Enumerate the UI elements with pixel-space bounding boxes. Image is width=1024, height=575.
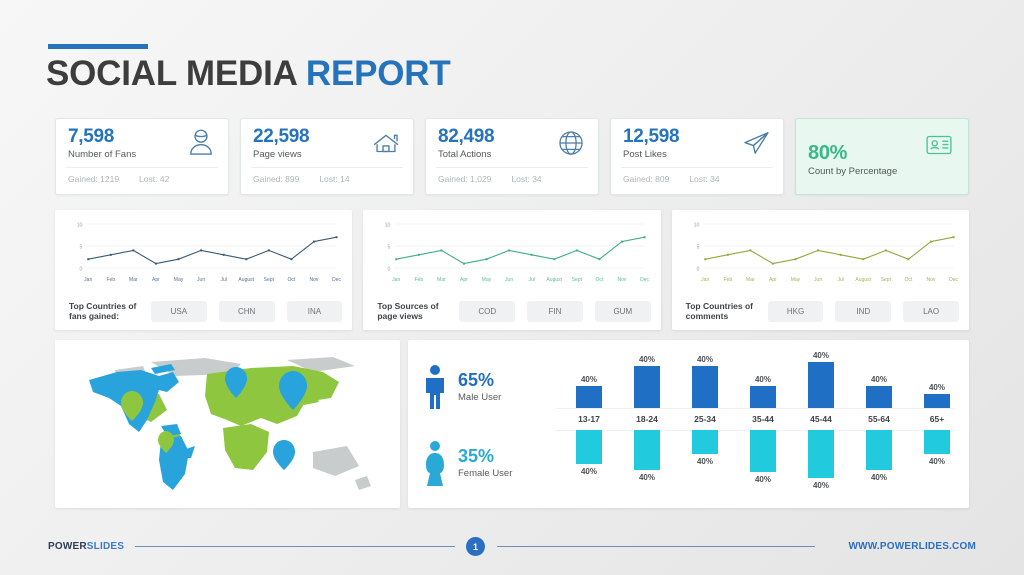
chart-card-fans-gained[interactable]: 0510JanFebMarAprMayJunJulAugustSeptOctNo… bbox=[55, 210, 352, 330]
female-text: 35% Female User bbox=[458, 447, 512, 479]
svg-text:August: August bbox=[547, 277, 563, 283]
kpi-label: Count by Percentage bbox=[808, 166, 958, 177]
tag-country-3[interactable]: INA bbox=[287, 301, 343, 322]
user-icon bbox=[184, 126, 218, 160]
male-bar-value: 40% bbox=[910, 383, 964, 392]
kpi-gained: Gained: 1,029 bbox=[438, 174, 491, 184]
svg-text:August: August bbox=[238, 277, 254, 283]
tag-country-2[interactable]: CHN bbox=[219, 301, 275, 322]
footer-rule-left bbox=[135, 546, 455, 547]
svg-text:Oct: Oct bbox=[904, 277, 912, 283]
svg-text:Nov: Nov bbox=[618, 277, 627, 283]
female-bar[interactable] bbox=[634, 430, 660, 470]
slide-canvas: SOCIAL MEDIA REPORT 7,598 Number of Fans… bbox=[0, 0, 1024, 575]
male-bar[interactable] bbox=[634, 366, 660, 408]
kpi-footer: Gained: 1,029 Lost: 34 bbox=[426, 168, 598, 184]
female-percentage: 35% bbox=[458, 447, 512, 465]
svg-text:Jun: Jun bbox=[197, 277, 205, 283]
male-percentage: 65% bbox=[458, 371, 501, 389]
kpi-lost: Lost: 34 bbox=[511, 174, 541, 184]
female-bar-value: 40% bbox=[678, 457, 732, 466]
male-bar-value: 40% bbox=[620, 355, 674, 364]
chart-card-page-views[interactable]: 0510JanFebMarAprMayJunJulAugustSeptOctNo… bbox=[363, 210, 660, 330]
male-bar[interactable] bbox=[866, 386, 892, 408]
svg-text:Oct: Oct bbox=[287, 277, 295, 283]
slide-footer: POWERSLIDES 1 WWW.POWERLIDES.COM bbox=[0, 523, 1024, 575]
age-group-label: 65+ bbox=[910, 414, 964, 424]
chart-card-comments[interactable]: 0510JanFebMarAprMayJunJulAugustSeptOctNo… bbox=[672, 210, 969, 330]
svg-text:10: 10 bbox=[77, 223, 83, 229]
female-bar-value: 40% bbox=[562, 467, 616, 476]
site-url: WWW.POWERLIDES.COM bbox=[849, 541, 976, 552]
page-number-badge: 1 bbox=[466, 537, 485, 556]
tag-source-2[interactable]: FIN bbox=[527, 301, 583, 322]
svg-text:Mar: Mar bbox=[129, 277, 138, 283]
female-figure-icon bbox=[422, 440, 448, 486]
kpi-top: 12,598 Post Likes bbox=[611, 119, 783, 167]
paper-plane-icon bbox=[739, 126, 773, 160]
male-figure-icon bbox=[422, 364, 448, 410]
female-bar[interactable] bbox=[750, 430, 776, 472]
age-group-column: 40%65+40% bbox=[910, 340, 964, 508]
male-bar[interactable] bbox=[692, 366, 718, 408]
svg-text:Jan: Jan bbox=[84, 277, 92, 283]
female-bar[interactable] bbox=[808, 430, 834, 478]
svg-text:Oct: Oct bbox=[596, 277, 604, 283]
age-group-label: 13-17 bbox=[562, 414, 616, 424]
kpi-footer: Gained: 809 Lost: 34 bbox=[611, 168, 783, 184]
tag-country-1[interactable]: USA bbox=[151, 301, 207, 322]
svg-text:Mar: Mar bbox=[437, 277, 446, 283]
male-bar[interactable] bbox=[808, 362, 834, 408]
male-bar-value: 40% bbox=[794, 351, 848, 360]
svg-text:Jan: Jan bbox=[701, 277, 709, 283]
svg-text:10: 10 bbox=[385, 223, 391, 229]
svg-text:May: May bbox=[790, 277, 800, 283]
male-bar-value: 40% bbox=[852, 375, 906, 384]
world-map-card[interactable] bbox=[55, 340, 400, 508]
svg-text:5: 5 bbox=[79, 245, 82, 251]
brand-light: SLIDES bbox=[87, 541, 124, 552]
kpi-lost: Lost: 42 bbox=[139, 174, 169, 184]
kpi-gained: Gained: 899 bbox=[253, 174, 299, 184]
age-group-label: 55-64 bbox=[852, 414, 906, 424]
svg-text:Jul: Jul bbox=[220, 277, 226, 283]
gender-summary: 65% Male User 35% Female User bbox=[408, 340, 556, 508]
chart-footer: Top Countries of comments HKG IND LAO bbox=[686, 301, 959, 322]
title-accent-rule bbox=[48, 44, 148, 49]
female-label: Female User bbox=[458, 468, 512, 479]
female-bar-value: 40% bbox=[852, 473, 906, 482]
svg-text:Jun: Jun bbox=[814, 277, 822, 283]
page-title: SOCIAL MEDIA REPORT bbox=[46, 54, 451, 94]
male-bar[interactable] bbox=[750, 386, 776, 408]
female-bar[interactable] bbox=[866, 430, 892, 470]
male-bar[interactable] bbox=[576, 386, 602, 408]
kpi-top: 82,498 Total Actions bbox=[426, 119, 598, 167]
female-bar-value: 40% bbox=[910, 457, 964, 466]
kpi-card-number-of-fans[interactable]: 7,598 Number of Fans Gained: 1219 Lost: … bbox=[55, 118, 229, 195]
svg-text:May: May bbox=[482, 277, 492, 283]
age-group-label: 18-24 bbox=[620, 414, 674, 424]
age-group-column: 40%13-1740% bbox=[562, 340, 616, 508]
line-chart-fans: 0510JanFebMarAprMayJunJulAugustSeptOctNo… bbox=[63, 218, 344, 286]
svg-text:10: 10 bbox=[693, 223, 699, 229]
line-chart-page-views: 0510JanFebMarAprMayJunJulAugustSeptOctNo… bbox=[371, 218, 652, 286]
footer-rule-right bbox=[497, 546, 815, 547]
svg-text:August: August bbox=[855, 277, 871, 283]
female-bar-value: 40% bbox=[794, 481, 848, 490]
male-bar-value: 40% bbox=[678, 355, 732, 364]
tag-comment-country-1[interactable]: HKG bbox=[768, 301, 824, 322]
kpi-top: 22,598 Page views bbox=[241, 119, 413, 167]
globe-icon bbox=[554, 126, 588, 160]
age-group-column: 40%45-4440% bbox=[794, 340, 848, 508]
age-group-label: 45-44 bbox=[794, 414, 848, 424]
age-gender-bar-chart: 40%13-1740%40%18-2440%40%25-3440%40%35-4… bbox=[556, 340, 961, 508]
svg-text:Apr: Apr bbox=[460, 277, 468, 283]
age-group-column: 40%55-6440% bbox=[852, 340, 906, 508]
tag-source-3[interactable]: GUM bbox=[595, 301, 651, 322]
svg-text:5: 5 bbox=[388, 245, 391, 251]
kpi-top: 80% Count by Percentage bbox=[796, 119, 968, 196]
svg-text:Sept: Sept bbox=[572, 277, 583, 283]
svg-text:Feb: Feb bbox=[415, 277, 424, 283]
female-bar-value: 40% bbox=[736, 475, 790, 484]
svg-text:Dec: Dec bbox=[332, 277, 341, 283]
kpi-footer: Gained: 1219 Lost: 42 bbox=[56, 168, 228, 184]
svg-text:May: May bbox=[174, 277, 184, 283]
female-summary: 35% Female User bbox=[422, 440, 512, 486]
kpi-top: 7,598 Number of Fans bbox=[56, 119, 228, 167]
svg-text:5: 5 bbox=[696, 245, 699, 251]
tag-source-1[interactable]: COD bbox=[459, 301, 515, 322]
age-group-column: 40%35-4440% bbox=[736, 340, 790, 508]
id-card-icon bbox=[922, 128, 956, 162]
female-bar-value: 40% bbox=[620, 473, 674, 482]
demographics-card[interactable]: 65% Male User 35% Female User 40%13-1740… bbox=[408, 340, 969, 508]
svg-text:Feb: Feb bbox=[106, 277, 115, 283]
svg-text:Nov: Nov bbox=[310, 277, 319, 283]
brand-bold: POWER bbox=[48, 541, 87, 552]
female-bar[interactable] bbox=[692, 430, 718, 454]
chart-footer-label: Top Countries of comments bbox=[686, 301, 760, 322]
svg-text:Apr: Apr bbox=[769, 277, 777, 283]
kpi-card-count-by-percentage[interactable]: 80% Count by Percentage bbox=[795, 118, 969, 195]
world-map-icon bbox=[55, 340, 400, 508]
svg-text:0: 0 bbox=[388, 267, 391, 273]
svg-text:Sept: Sept bbox=[880, 277, 891, 283]
kpi-card-row: 7,598 Number of Fans Gained: 1219 Lost: … bbox=[55, 118, 969, 195]
svg-text:Sept: Sept bbox=[264, 277, 275, 283]
chart-footer: Top Countries of fans gained: USA CHN IN… bbox=[69, 301, 342, 322]
kpi-footer: Gained: 899 Lost: 14 bbox=[241, 168, 413, 184]
kpi-card-page-views[interactable]: 22,598 Page views Gained: 899 Lost: 14 bbox=[240, 118, 414, 195]
age-group-label: 35-44 bbox=[736, 414, 790, 424]
svg-text:Jul: Jul bbox=[837, 277, 843, 283]
kpi-lost: Lost: 34 bbox=[689, 174, 719, 184]
male-label: Male User bbox=[458, 392, 501, 403]
kpi-gained: Gained: 1219 bbox=[68, 174, 119, 184]
chart-footer: Top Sources of page views COD FIN GUM bbox=[377, 301, 650, 322]
page-title-main: SOCIAL MEDIA bbox=[46, 54, 306, 93]
age-group-column: 40%18-2440% bbox=[620, 340, 674, 508]
male-bar[interactable] bbox=[924, 394, 950, 408]
tag-comment-country-2[interactable]: IND bbox=[835, 301, 891, 322]
female-bar[interactable] bbox=[576, 430, 602, 464]
svg-text:0: 0 bbox=[696, 267, 699, 273]
chart-footer-label: Top Countries of fans gained: bbox=[69, 301, 143, 322]
kpi-card-post-likes[interactable]: 12,598 Post Likes Gained: 809 Lost: 34 bbox=[610, 118, 784, 195]
svg-text:Nov: Nov bbox=[926, 277, 935, 283]
svg-text:Apr: Apr bbox=[152, 277, 160, 283]
svg-text:Jun: Jun bbox=[505, 277, 513, 283]
svg-text:Dec: Dec bbox=[949, 277, 958, 283]
female-bar[interactable] bbox=[924, 430, 950, 454]
svg-text:Dec: Dec bbox=[640, 277, 649, 283]
page-title-accent: REPORT bbox=[306, 54, 451, 93]
age-group-label: 25-34 bbox=[678, 414, 732, 424]
male-bar-value: 40% bbox=[736, 375, 790, 384]
svg-text:Jul: Jul bbox=[529, 277, 535, 283]
male-bar-value: 40% bbox=[562, 375, 616, 384]
svg-text:0: 0 bbox=[79, 267, 82, 273]
svg-text:Mar: Mar bbox=[746, 277, 755, 283]
male-summary: 65% Male User bbox=[422, 364, 501, 410]
kpi-card-total-actions[interactable]: 82,498 Total Actions Gained: 1,029 Lost:… bbox=[425, 118, 599, 195]
age-group-column: 40%25-3440% bbox=[678, 340, 732, 508]
kpi-lost: Lost: 14 bbox=[319, 174, 349, 184]
line-chart-comments: 0510JanFebMarAprMayJunJulAugustSeptOctNo… bbox=[680, 218, 961, 286]
brand-logo: POWERSLIDES bbox=[48, 541, 124, 552]
home-icon bbox=[369, 126, 403, 160]
chart-footer-label: Top Sources of page views bbox=[377, 301, 451, 322]
svg-text:Feb: Feb bbox=[723, 277, 732, 283]
line-charts-row: 0510JanFebMarAprMayJunJulAugustSeptOctNo… bbox=[55, 210, 969, 330]
male-text: 65% Male User bbox=[458, 371, 501, 403]
kpi-gained: Gained: 809 bbox=[623, 174, 669, 184]
tag-comment-country-3[interactable]: LAO bbox=[903, 301, 959, 322]
svg-text:Jan: Jan bbox=[392, 277, 400, 283]
